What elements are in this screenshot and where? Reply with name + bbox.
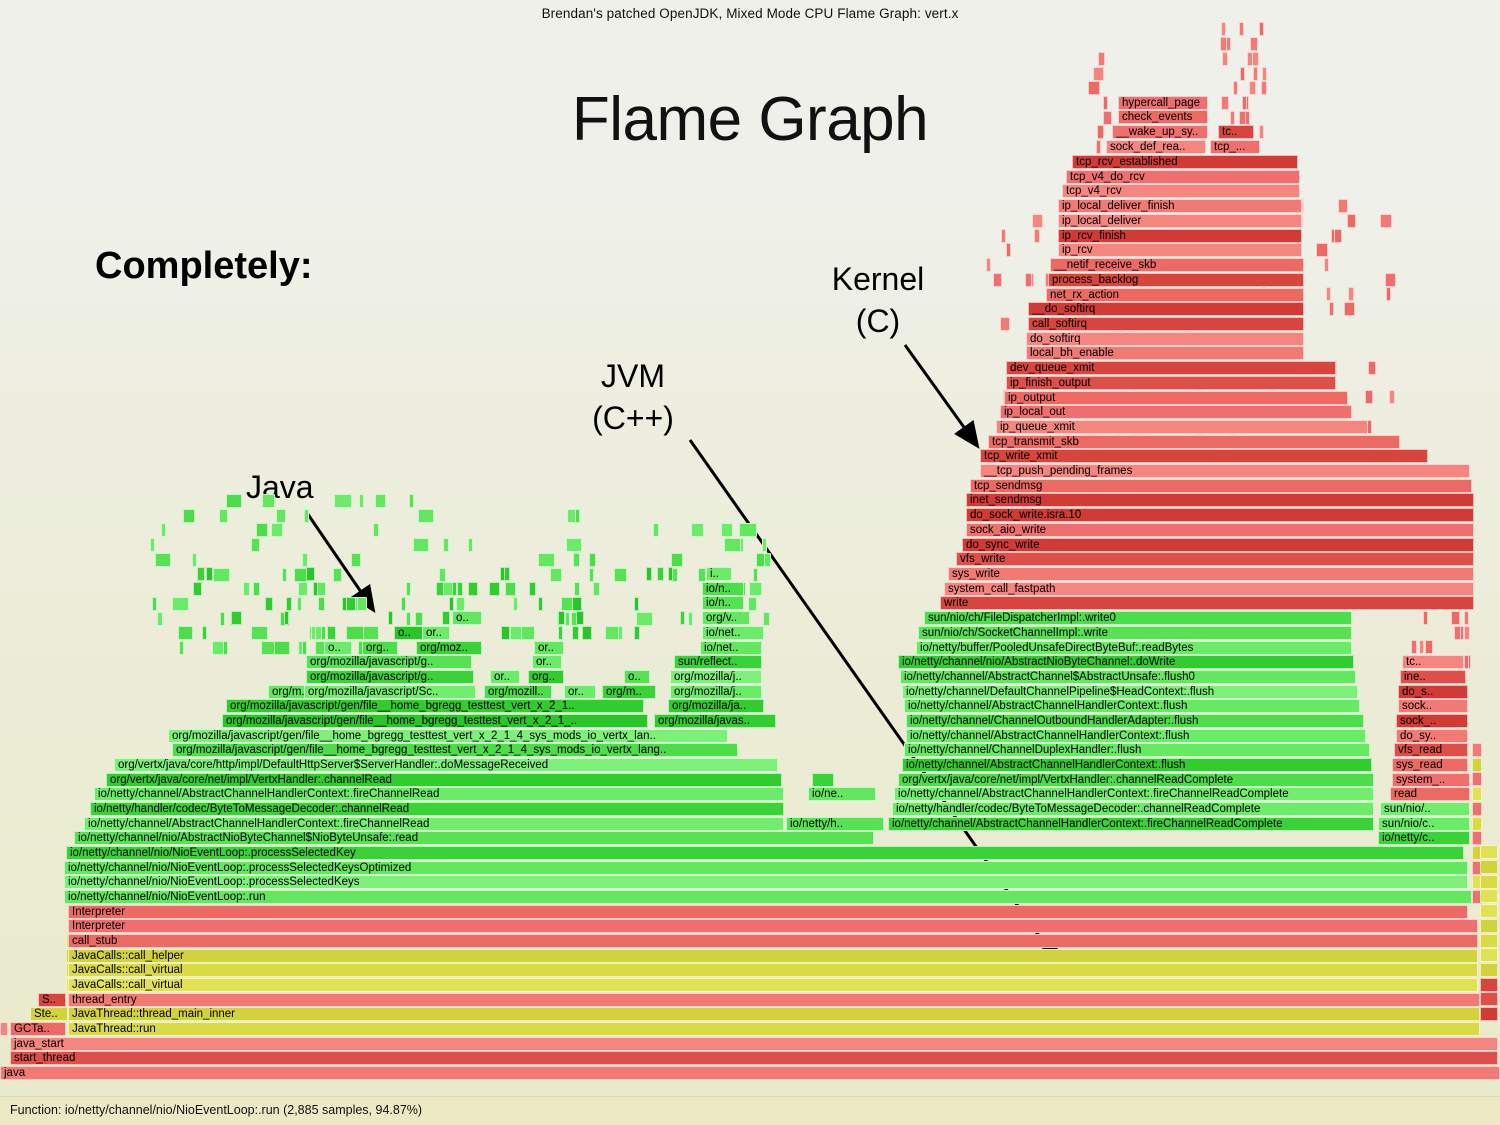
flamegraph-frame[interactable]: org/mozilla/javascript/g.. bbox=[306, 670, 474, 684]
flamegraph-frame[interactable] bbox=[1480, 875, 1498, 889]
flamegraph-frame[interactable] bbox=[1480, 934, 1498, 948]
flamegraph-frame[interactable]: write bbox=[940, 596, 1474, 610]
flamegraph-frame[interactable]: org/mozilla/j.. bbox=[670, 685, 762, 699]
flamegraph-frame[interactable]: sun/nio/c.. bbox=[1378, 817, 1470, 831]
flamegraph-frame[interactable] bbox=[286, 597, 291, 611]
flamegraph-frame[interactable]: sun/nio/ch/FileDispatcherImpl:.write0 bbox=[924, 611, 1352, 625]
flamegraph-frame[interactable] bbox=[668, 567, 673, 581]
flamegraph-frame[interactable] bbox=[593, 582, 600, 596]
flamegraph-frame[interactable] bbox=[442, 611, 450, 625]
flamegraph-frame[interactable]: java_start bbox=[10, 1037, 1498, 1051]
flamegraph-frame[interactable]: dev_queue_xmit bbox=[1006, 361, 1336, 375]
flamegraph-frame[interactable] bbox=[1242, 96, 1247, 110]
flamegraph-frame[interactable] bbox=[636, 612, 654, 626]
flamegraph-frame[interactable]: JavaThread::thread_main_inner bbox=[68, 1007, 1480, 1021]
flamegraph-frame[interactable]: org/mozilla/javascript/g.. bbox=[306, 655, 472, 669]
flamegraph-frame[interactable]: io/ne.. bbox=[808, 787, 876, 801]
flamegraph-frame[interactable] bbox=[1240, 67, 1245, 81]
flamegraph-frame[interactable]: hypercall_page bbox=[1118, 96, 1208, 110]
flamegraph-frame[interactable]: ip_output bbox=[1004, 391, 1348, 405]
flamegraph-frame[interactable] bbox=[1472, 802, 1482, 816]
flamegraph-frame[interactable]: org/mozilla/ja.. bbox=[668, 699, 764, 713]
flamegraph-frame[interactable] bbox=[572, 597, 582, 611]
flamegraph-frame[interactable] bbox=[1239, 22, 1244, 36]
flamegraph-frame[interactable]: i.. bbox=[706, 567, 732, 581]
flamegraph-frame[interactable] bbox=[456, 597, 466, 611]
flamegraph-frame[interactable]: ine.. bbox=[1400, 670, 1466, 684]
flamegraph-frame[interactable]: or.. bbox=[534, 641, 564, 655]
flamegraph-frame[interactable]: __wake_up_sy.. bbox=[1112, 125, 1208, 139]
flamegraph-frame[interactable] bbox=[764, 553, 771, 567]
flamegraph-frame[interactable] bbox=[468, 582, 478, 596]
flamegraph-frame[interactable] bbox=[298, 582, 307, 596]
flamegraph-frame[interactable]: local_bh_enable bbox=[1026, 346, 1304, 360]
flamegraph-frame[interactable]: ip_local_deliver_finish bbox=[1058, 199, 1302, 213]
flamegraph-frame[interactable] bbox=[251, 626, 268, 640]
flamegraph-frame[interactable]: io/netty/channel/AbstractChannelHandlerC… bbox=[904, 699, 1360, 713]
flamegraph-frame[interactable]: vfs_write bbox=[956, 552, 1474, 566]
flamegraph-frame[interactable] bbox=[406, 582, 411, 596]
flamegraph-frame[interactable]: io/netty/channel/nio/AbstractNioByteChan… bbox=[74, 831, 874, 845]
flamegraph-frame[interactable] bbox=[513, 597, 518, 611]
flamegraph-frame[interactable] bbox=[573, 553, 580, 567]
flamegraph-frame[interactable] bbox=[1001, 229, 1006, 243]
flamegraph-frame[interactable] bbox=[333, 568, 342, 582]
flamegraph-frame[interactable]: io/netty/c.. bbox=[1378, 831, 1470, 845]
flamegraph-frame[interactable]: Ste.. bbox=[30, 1007, 68, 1021]
flamegraph-frame[interactable] bbox=[1464, 655, 1469, 669]
flamegraph-frame[interactable]: io/netty/channel/AbstractChannelHandlerC… bbox=[902, 758, 1372, 772]
flamegraph-frame[interactable]: io/netty/handler/codec/ByteToMessageDeco… bbox=[892, 802, 1374, 816]
flamegraph-frame[interactable] bbox=[1480, 919, 1498, 933]
flamegraph-frame[interactable]: tcp_sendmsg bbox=[970, 479, 1472, 493]
flamegraph-frame[interactable]: Interpreter bbox=[68, 919, 1478, 933]
flamegraph-frame[interactable] bbox=[1480, 963, 1498, 977]
flamegraph-frame[interactable] bbox=[363, 626, 378, 640]
flamegraph-frame[interactable] bbox=[1221, 96, 1229, 110]
flamegraph-frame[interactable]: io/netty/channel/AbstractChannel$Abstrac… bbox=[900, 670, 1356, 684]
flamegraph-frame[interactable]: sock.. bbox=[1398, 699, 1468, 713]
flamegraph-frame[interactable] bbox=[1000, 317, 1010, 331]
flamegraph-frame[interactable] bbox=[1259, 22, 1264, 36]
flamegraph-frame[interactable]: org/mozilla/javascript/Sc.. bbox=[304, 685, 476, 699]
flamegraph-frame[interactable] bbox=[500, 567, 505, 581]
flamegraph-frame[interactable] bbox=[284, 611, 289, 625]
flamegraph-frame[interactable] bbox=[1454, 626, 1461, 640]
flamegraph-frame[interactable]: GCTa.. bbox=[10, 1022, 66, 1036]
flamegraph-frame[interactable] bbox=[614, 568, 627, 582]
flamegraph-frame[interactable] bbox=[346, 626, 363, 640]
flamegraph-frame[interactable] bbox=[351, 553, 361, 567]
flamegraph-frame[interactable]: io/netty/channel/AbstractChannelHandlerC… bbox=[906, 729, 1366, 743]
flamegraph-frame[interactable] bbox=[993, 273, 1002, 287]
flamegraph-frame[interactable] bbox=[375, 494, 385, 508]
flamegraph-frame[interactable]: org/v.. bbox=[702, 611, 750, 625]
flamegraph-frame[interactable] bbox=[298, 641, 303, 655]
flamegraph-frame[interactable]: io/netty/channel/nio/NioEventLoop:.proce… bbox=[64, 861, 1468, 875]
flamegraph-frame[interactable] bbox=[317, 582, 326, 596]
flamegraph-frame[interactable] bbox=[202, 626, 207, 640]
flamegraph-frame[interactable]: io/netty/channel/AbstractChannelHandlerC… bbox=[94, 787, 784, 801]
flamegraph-frame[interactable]: org/mozilla/javascript/gen/file__home_bg… bbox=[172, 743, 738, 757]
flamegraph-frame[interactable]: ip_local_out bbox=[1000, 405, 1352, 419]
flamegraph-frame[interactable]: sun/reflect.. bbox=[674, 655, 762, 669]
flamegraph-frame[interactable] bbox=[589, 553, 595, 567]
flamegraph-frame[interactable] bbox=[739, 523, 757, 537]
flamegraph-frame[interactable] bbox=[1480, 904, 1498, 918]
flamegraph-frame[interactable] bbox=[439, 568, 446, 582]
flamegraph-frame[interactable]: __tcp_push_pending_frames bbox=[980, 464, 1470, 478]
flamegraph-frame[interactable] bbox=[1472, 817, 1482, 831]
flamegraph-frame[interactable] bbox=[373, 523, 379, 537]
flamegraph-frame[interactable]: system_call_fastpath bbox=[944, 582, 1474, 596]
flamegraph-frame[interactable]: ip_rcv_finish bbox=[1058, 229, 1302, 243]
flamegraph-frame[interactable]: or.. bbox=[490, 670, 520, 684]
flamegraph-frame[interactable] bbox=[1221, 22, 1226, 36]
flamegraph-frame[interactable]: do_sync_write bbox=[962, 538, 1474, 552]
flamegraph-frame[interactable] bbox=[1338, 199, 1348, 213]
flamegraph-frame[interactable] bbox=[566, 538, 582, 552]
flamegraph-frame[interactable] bbox=[401, 597, 406, 611]
flamegraph-frame[interactable] bbox=[327, 626, 335, 640]
flamegraph-frame[interactable]: __do_softirq bbox=[1028, 302, 1304, 316]
flamegraph-frame[interactable]: vfs_read bbox=[1394, 743, 1468, 757]
flamegraph-frame[interactable] bbox=[418, 509, 434, 523]
flamegraph-frame[interactable] bbox=[1088, 81, 1100, 95]
flamegraph-frame[interactable] bbox=[415, 612, 423, 626]
flamegraph-frame[interactable]: io/netty/channel/AbstractChannelHandlerC… bbox=[894, 787, 1374, 801]
flamegraph-frame[interactable] bbox=[449, 597, 454, 611]
flamegraph-frame[interactable] bbox=[1096, 140, 1101, 154]
flamegraph-frame[interactable] bbox=[574, 582, 581, 596]
flamegraph-frame[interactable] bbox=[276, 509, 286, 523]
flamegraph-frame[interactable]: net_rx_action bbox=[1046, 288, 1304, 302]
flamegraph-frame[interactable] bbox=[1344, 302, 1355, 316]
flamegraph-frame[interactable]: tc.. bbox=[1402, 655, 1464, 669]
flamegraph-frame[interactable] bbox=[1324, 258, 1329, 272]
flamegraph-frame[interactable] bbox=[231, 611, 242, 625]
flamegraph-frame[interactable] bbox=[558, 611, 564, 625]
flamegraph-frame[interactable]: java bbox=[0, 1066, 1500, 1080]
flamegraph-frame[interactable]: tcp_transmit_skb bbox=[988, 435, 1400, 449]
flamegraph-frame[interactable] bbox=[183, 509, 196, 523]
flamegraph-frame[interactable] bbox=[172, 597, 189, 611]
flamegraph-frame[interactable] bbox=[646, 567, 652, 581]
flamegraph-frame[interactable] bbox=[538, 597, 543, 611]
flamegraph-frame[interactable] bbox=[0, 1022, 8, 1036]
flamegraph-frame[interactable]: org.. bbox=[528, 670, 564, 684]
flamegraph-frame[interactable] bbox=[243, 582, 250, 596]
flamegraph-frame[interactable]: org/mozilla/javascript/gen/file__home_bg… bbox=[222, 714, 648, 728]
flamegraph-frame[interactable]: io/netty/channel/nio/NioEventLoop:.run bbox=[64, 890, 1472, 904]
flamegraph-frame[interactable] bbox=[251, 538, 261, 552]
flamegraph-frame[interactable] bbox=[161, 523, 166, 537]
flamegraph-frame[interactable] bbox=[271, 523, 283, 537]
flamegraph-frame[interactable] bbox=[501, 626, 510, 640]
flamegraph-frame[interactable]: org/m.. bbox=[602, 685, 656, 699]
flamegraph-frame[interactable] bbox=[213, 568, 230, 582]
flamegraph-frame[interactable]: sun/nio/.. bbox=[1380, 802, 1470, 816]
flamegraph-frame[interactable] bbox=[680, 611, 685, 625]
flamegraph-frame[interactable]: sock_def_rea.. bbox=[1106, 140, 1206, 154]
flamegraph-frame[interactable] bbox=[1368, 361, 1376, 375]
flamegraph-frame[interactable] bbox=[297, 597, 302, 611]
flamegraph-frame[interactable] bbox=[1472, 743, 1482, 757]
flamegraph-frame[interactable] bbox=[521, 626, 535, 640]
flamegraph-frame[interactable] bbox=[1386, 287, 1391, 301]
flamegraph-frame[interactable] bbox=[193, 582, 202, 596]
flamegraph-frame[interactable]: io/netty/handler/codec/ByteToMessageDeco… bbox=[90, 802, 784, 816]
flamegraph-frame[interactable] bbox=[671, 553, 683, 567]
flamegraph-frame[interactable]: tc.. bbox=[1218, 125, 1254, 139]
flamegraph-frame[interactable]: JavaCalls::call_helper bbox=[68, 949, 1478, 963]
flamegraph-frame[interactable] bbox=[653, 523, 659, 537]
flamegraph-frame[interactable]: io/netty/channel/DefaultChannelPipeline$… bbox=[902, 685, 1358, 699]
flamegraph-frame[interactable] bbox=[346, 597, 356, 611]
flamegraph-frame[interactable]: ip_finish_output bbox=[1006, 376, 1336, 390]
flamegraph-frame[interactable] bbox=[489, 582, 500, 596]
flamegraph-frame[interactable] bbox=[1472, 831, 1482, 845]
flamegraph-frame[interactable] bbox=[748, 597, 757, 611]
flamegraph-frame[interactable] bbox=[1480, 948, 1498, 962]
flamegraph-frame[interactable]: S.. bbox=[38, 993, 66, 1007]
flamegraph-frame[interactable] bbox=[1103, 111, 1111, 125]
flamegraph-frame[interactable]: process_backlog bbox=[1048, 273, 1304, 287]
flamegraph-frame[interactable]: tcp_... bbox=[1210, 140, 1260, 154]
flamegraph-frame[interactable] bbox=[220, 612, 225, 626]
flamegraph-frame[interactable]: call_stub bbox=[68, 934, 1478, 948]
flamegraph-frame[interactable] bbox=[1451, 611, 1460, 625]
flamegraph-frame[interactable]: system_.. bbox=[1392, 773, 1470, 787]
flamegraph-frame[interactable] bbox=[538, 553, 555, 567]
flamegraph-frame[interactable]: org/vertx/java/core/net/impl/VertxHandle… bbox=[898, 773, 1374, 787]
flamegraph-frame[interactable] bbox=[282, 568, 287, 582]
flamegraph-frame[interactable]: Interpreter bbox=[68, 905, 1468, 919]
flamegraph-frame[interactable]: do_s.. bbox=[1398, 685, 1468, 699]
flamegraph-frame[interactable] bbox=[262, 494, 275, 508]
flamegraph-frame[interactable]: sock_aio_write bbox=[966, 523, 1474, 537]
flamegraph-frame[interactable]: read bbox=[1390, 787, 1470, 801]
flamegraph-frame[interactable] bbox=[318, 597, 325, 611]
flamegraph-frame[interactable] bbox=[265, 597, 273, 611]
flamegraph-frame[interactable] bbox=[1480, 1007, 1498, 1021]
flamegraph-frame[interactable] bbox=[359, 494, 365, 508]
flamegraph-frame[interactable] bbox=[572, 626, 580, 640]
flamegraph-frame[interactable]: tcp_v4_do_rcv bbox=[1066, 170, 1300, 184]
flamegraph-frame[interactable]: ip_local_deliver bbox=[1058, 214, 1302, 228]
flamegraph-frame[interactable]: io/netty/channel/nio/NioEventLoop:.proce… bbox=[64, 875, 1468, 889]
flamegraph-frame[interactable] bbox=[150, 538, 155, 552]
flamegraph-frame[interactable]: tcp_write_xmit bbox=[980, 449, 1428, 463]
flamegraph-frame[interactable] bbox=[226, 494, 242, 508]
flamegraph-frame[interactable]: org/vertx/java/core/http/impl/DefaultHtt… bbox=[114, 758, 778, 772]
flamegraph-frame[interactable]: o.. bbox=[324, 641, 352, 655]
flamegraph-frame[interactable] bbox=[1425, 640, 1433, 654]
flamegraph-frame[interactable]: inet_sendmsg bbox=[966, 493, 1474, 507]
flamegraph-frame[interactable] bbox=[157, 612, 164, 626]
flamegraph-frame[interactable] bbox=[1032, 214, 1043, 228]
flamegraph-frame[interactable]: o.. bbox=[452, 611, 482, 625]
flamegraph-frame[interactable] bbox=[306, 567, 315, 581]
flamegraph-frame[interactable]: or.. bbox=[422, 626, 450, 640]
flamegraph-frame[interactable]: io/netty/channel/nio/AbstractNioByteChan… bbox=[898, 655, 1354, 669]
flamegraph-frame[interactable]: org/mozilla/j.. bbox=[670, 670, 762, 684]
flamegraph-frame[interactable] bbox=[753, 568, 758, 582]
flamegraph-frame[interactable]: io/netty/channel/AbstractChannelHandlerC… bbox=[888, 817, 1374, 831]
flamegraph-frame[interactable] bbox=[1103, 96, 1108, 110]
flamegraph-frame[interactable]: io/netty/h.. bbox=[786, 817, 884, 831]
flamegraph-frame[interactable] bbox=[1365, 390, 1373, 404]
flamegraph-frame[interactable] bbox=[1316, 243, 1328, 257]
flamegraph-frame[interactable]: org/moz.. bbox=[416, 641, 482, 655]
flamegraph-frame[interactable] bbox=[1472, 772, 1482, 786]
flamegraph-frame[interactable] bbox=[1097, 125, 1105, 139]
flamegraph-frame[interactable]: org/mozilla/javas.. bbox=[654, 714, 776, 728]
flamegraph-frame[interactable] bbox=[1098, 52, 1105, 66]
flamegraph-frame[interactable] bbox=[1239, 111, 1246, 125]
flamegraph-frame[interactable] bbox=[1347, 214, 1356, 228]
flamegraph-frame[interactable] bbox=[219, 509, 228, 523]
flamegraph-frame[interactable] bbox=[576, 611, 584, 625]
flamegraph-frame[interactable] bbox=[1389, 390, 1395, 404]
flamegraph-frame[interactable] bbox=[256, 523, 268, 537]
flamegraph-frame[interactable]: tcp_rcv_established bbox=[1072, 155, 1298, 169]
flamegraph-frame[interactable] bbox=[550, 568, 562, 582]
flamegraph-frame[interactable]: start_thread bbox=[10, 1051, 1498, 1065]
flamegraph-frame[interactable] bbox=[253, 582, 259, 596]
flamegraph-frame[interactable]: io/n.. bbox=[702, 582, 744, 596]
flamegraph-frame[interactable] bbox=[468, 538, 473, 552]
flamegraph-frame[interactable] bbox=[558, 626, 563, 640]
flamegraph-frame[interactable]: o.. bbox=[394, 626, 424, 640]
flamegraph-frame[interactable]: ip_rcv bbox=[1058, 243, 1302, 257]
flamegraph-frame[interactable] bbox=[1472, 787, 1482, 801]
flamegraph-frame[interactable] bbox=[155, 553, 171, 567]
flamegraph-frame[interactable]: o.. bbox=[624, 670, 650, 684]
flamegraph-frame[interactable] bbox=[304, 509, 309, 523]
flamegraph-frame[interactable]: io/n.. bbox=[702, 596, 744, 610]
flamegraph-frame[interactable] bbox=[197, 567, 206, 581]
flamegraph-frame[interactable]: org/mozilla/javascript/gen/file__home_bg… bbox=[226, 699, 644, 713]
flamegraph-frame[interactable] bbox=[986, 258, 991, 272]
flamegraph-frame[interactable] bbox=[152, 597, 157, 611]
flamegraph-frame[interactable]: io/net.. bbox=[702, 626, 764, 640]
flamegraph-frame[interactable] bbox=[1034, 229, 1039, 243]
flamegraph-frame[interactable] bbox=[634, 626, 640, 640]
flamegraph-frame[interactable]: JavaCalls::call_virtual bbox=[68, 978, 1478, 992]
flamegraph-frame[interactable] bbox=[1222, 52, 1228, 66]
flamegraph-frame[interactable] bbox=[413, 538, 429, 552]
flamegraph-frame[interactable] bbox=[206, 567, 213, 581]
flamegraph-frame[interactable]: org/vertx/java/core/net/impl/VertxHandle… bbox=[106, 773, 782, 787]
flamegraph-frame[interactable] bbox=[178, 626, 193, 640]
flamegraph-frame[interactable] bbox=[1233, 81, 1238, 95]
flamegraph-frame[interactable] bbox=[457, 582, 463, 596]
flamegraph-frame[interactable]: io/netty/channel/nio/NioEventLoop:.proce… bbox=[66, 846, 1464, 860]
flamegraph-frame[interactable]: io/net.. bbox=[700, 641, 762, 655]
flamegraph-frame[interactable]: io/netty/channel/ChannelDuplexHandler:.f… bbox=[904, 743, 1370, 757]
flamegraph-frame[interactable]: or.. bbox=[532, 655, 562, 669]
flamegraph-frame[interactable] bbox=[763, 612, 770, 626]
flamegraph-frame[interactable] bbox=[529, 582, 536, 596]
flamegraph-frame[interactable] bbox=[575, 509, 580, 523]
flamegraph-frame[interactable]: call_softirq bbox=[1028, 317, 1304, 331]
flamegraph-frame[interactable]: do_sy.. bbox=[1396, 729, 1468, 743]
flamegraph-frame[interactable]: sys_read bbox=[1392, 758, 1468, 772]
flamegraph-frame[interactable]: org.. bbox=[362, 641, 398, 655]
flamegraph-frame[interactable] bbox=[688, 612, 693, 626]
flamegraph-frame[interactable] bbox=[1480, 992, 1498, 1006]
flamegraph-frame[interactable] bbox=[1247, 52, 1253, 66]
flamegraph-frame[interactable] bbox=[274, 641, 291, 655]
flamegraph-frame[interactable] bbox=[443, 538, 449, 552]
flamegraph-frame[interactable] bbox=[1480, 978, 1498, 992]
flamegraph-frame[interactable] bbox=[1006, 243, 1011, 257]
flamegraph-frame[interactable] bbox=[749, 582, 762, 596]
flamegraph-frame[interactable] bbox=[505, 582, 516, 596]
flamegraph-frame[interactable] bbox=[1262, 67, 1267, 81]
flamegraph-frame[interactable]: thread_entry bbox=[68, 993, 1480, 1007]
flamegraph-frame[interactable] bbox=[1253, 67, 1258, 81]
flamegraph-frame[interactable]: do_sock_write.isra.10 bbox=[966, 508, 1474, 522]
flamegraph-frame[interactable] bbox=[634, 597, 639, 611]
flamegraph-frame[interactable] bbox=[1250, 37, 1259, 51]
flamegraph-frame[interactable]: io/netty/channel/ChannelOutboundHandlerA… bbox=[906, 714, 1364, 728]
flamegraph-frame[interactable]: sun/nio/ch/SocketChannelImpl:.write bbox=[918, 626, 1352, 640]
flamegraph-frame[interactable] bbox=[357, 597, 367, 611]
flamegraph-frame[interactable] bbox=[1464, 611, 1469, 625]
flamegraph-frame[interactable] bbox=[406, 612, 411, 626]
flamegraph-frame[interactable] bbox=[724, 538, 741, 552]
flamegraph-frame[interactable]: do_softirq bbox=[1026, 332, 1304, 346]
flamegraph-frame[interactable] bbox=[1329, 302, 1334, 316]
flamegraph-frame[interactable] bbox=[605, 626, 619, 640]
flamegraph-frame[interactable] bbox=[409, 494, 414, 508]
flamegraph-frame[interactable] bbox=[582, 626, 592, 640]
flamegraph-frame[interactable] bbox=[691, 523, 703, 537]
flamegraph-frame[interactable] bbox=[1385, 273, 1396, 287]
flamegraph-frame[interactable] bbox=[179, 641, 184, 655]
flamegraph-frame[interactable]: sock_.. bbox=[1396, 714, 1468, 728]
flamegraph-frame[interactable] bbox=[1326, 287, 1331, 301]
flamegraph-frame[interactable]: org/mozilla/javascript/gen/file__home_bg… bbox=[168, 729, 728, 743]
flamegraph-frame[interactable] bbox=[565, 612, 570, 626]
flamegraph-frame[interactable] bbox=[334, 494, 351, 508]
flamegraph-frame[interactable] bbox=[1480, 845, 1498, 859]
flamegraph-frame[interactable] bbox=[762, 538, 767, 552]
flamegraph-frame[interactable]: sys_write bbox=[948, 567, 1474, 581]
flamegraph-frame[interactable] bbox=[192, 553, 197, 567]
flamegraph-frame[interactable] bbox=[1249, 81, 1256, 95]
flamegraph-frame[interactable]: ip_queue_xmit bbox=[996, 420, 1368, 434]
flamegraph-frame[interactable]: or.. bbox=[564, 685, 596, 699]
flamegraph-frame[interactable]: tcp_v4_rcv bbox=[1062, 184, 1300, 198]
flamegraph-frame[interactable] bbox=[1480, 889, 1498, 903]
flamegraph-frame[interactable] bbox=[313, 582, 318, 596]
flamegraph-frame[interactable] bbox=[1411, 640, 1417, 654]
flamegraph-frame[interactable] bbox=[1093, 67, 1104, 81]
flamegraph-frame[interactable]: __netif_receive_skb bbox=[1050, 258, 1304, 272]
flamegraph-frame[interactable] bbox=[1259, 125, 1264, 139]
flamegraph-frame[interactable]: JavaThread::run bbox=[68, 1022, 1480, 1036]
flamegraph-frame[interactable] bbox=[1423, 611, 1428, 625]
flamegraph-frame[interactable] bbox=[1380, 214, 1392, 228]
flamegraph-frame[interactable] bbox=[311, 626, 316, 640]
flamegraph-frame[interactable] bbox=[436, 582, 444, 596]
flamegraph-frame[interactable]: io/netty/channel/AbstractChannelHandlerC… bbox=[84, 817, 784, 831]
flamegraph-frame[interactable] bbox=[212, 641, 225, 655]
flamegraph-frame[interactable] bbox=[302, 553, 308, 567]
